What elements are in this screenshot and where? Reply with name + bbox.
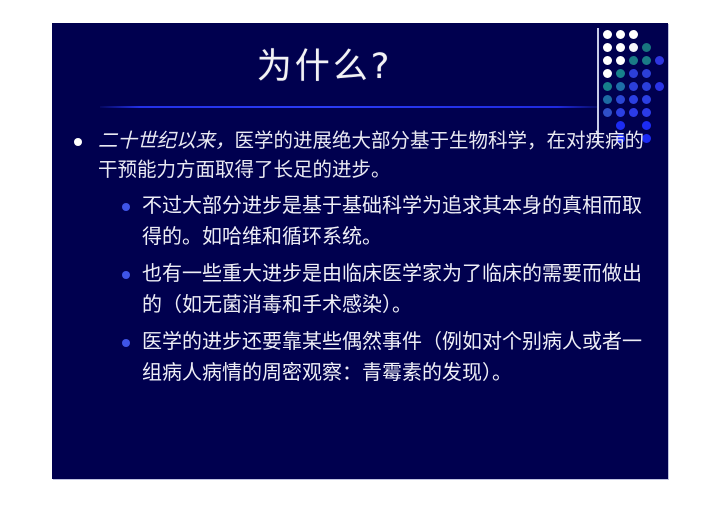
decorative-dot: [629, 56, 638, 65]
bullet-text-segment: 不过大部分进步是基于基础科学为追求其本身的真相而取得的。如哈维和循环系统。: [142, 195, 642, 248]
decorative-dot: [616, 56, 625, 65]
slide-canvas: 为什么? 二十世纪以来，医学的进展绝大部分基于生物科学，在对疾病的干预能力方面取…: [0, 0, 720, 509]
decorative-dot: [629, 69, 638, 78]
vertical-separator-line: [597, 28, 599, 143]
decorative-dot: [642, 95, 651, 104]
decorative-dot: [642, 82, 651, 91]
decorative-dot: [603, 95, 612, 104]
decorative-dot: [642, 69, 651, 78]
dot-matrix-decoration: [603, 30, 668, 140]
decorative-dot: [616, 43, 625, 52]
decorative-dot: [629, 30, 638, 39]
decorative-dot: [629, 108, 638, 117]
white-disc-bullet-icon: [74, 138, 82, 146]
decorative-dot: [655, 56, 664, 65]
decorative-dot: [603, 56, 612, 65]
decorative-dot: [616, 30, 625, 39]
bullet-text-segment: 医学的进步还要靠某些偶然事件（例如对个别病人或者一组病人病情的周密观察：青霉素的…: [142, 331, 642, 384]
bullet-item-level-2: 医学的进步还要靠某些偶然事件（例如对个别病人或者一组病人病情的周密观察：青霉素的…: [52, 327, 668, 389]
bullet-item-level-2: 不过大部分进步是基于基础科学为追求其本身的真相而取得的。如哈维和循环系统。: [52, 191, 668, 253]
presentation-slide: 为什么? 二十世纪以来，医学的进展绝大部分基于生物科学，在对疾病的干预能力方面取…: [52, 23, 668, 479]
decorative-dot: [629, 95, 638, 104]
page-title: 为什么?: [257, 50, 393, 85]
decorative-dot: [642, 43, 651, 52]
blue-disc-bullet-icon: [122, 271, 130, 279]
bullet-list: 二十世纪以来，医学的进展绝大部分基于生物科学，在对疾病的干预能力方面取得了长足的…: [52, 127, 668, 479]
blue-disc-bullet-icon: [122, 203, 130, 211]
bullet-text-segment: 也有一些重大进步是由临床医学家为了临床的需要而做出的（如无菌消毒和手术感染）。: [142, 263, 642, 316]
decorative-dot: [603, 108, 612, 117]
decorative-dot: [603, 69, 612, 78]
bullet-item-level-2: 也有一些重大进步是由临床医学家为了临床的需要而做出的（如无菌消毒和手术感染）。: [52, 259, 668, 321]
decorative-dot: [616, 69, 625, 78]
decorative-dot: [642, 56, 651, 65]
decorative-dot: [642, 108, 651, 117]
decorative-dot: [603, 43, 612, 52]
decorative-dot: [655, 82, 664, 91]
decorative-dot: [629, 82, 638, 91]
title-underline-rule: [100, 106, 597, 108]
bullet-item-level-1: 二十世纪以来，医学的进展绝大部分基于生物科学，在对疾病的干预能力方面取得了长足的…: [52, 127, 668, 185]
decorative-dot: [603, 30, 612, 39]
title-zone: 为什么?: [52, 31, 597, 103]
bullet-text-segment: 二十世纪以来，: [98, 131, 235, 152]
decorative-dot: [616, 82, 625, 91]
decorative-dot: [629, 43, 638, 52]
decorative-dot: [616, 108, 625, 117]
decorative-dot: [603, 82, 612, 91]
blue-disc-bullet-icon: [122, 339, 130, 347]
decorative-dot: [616, 95, 625, 104]
